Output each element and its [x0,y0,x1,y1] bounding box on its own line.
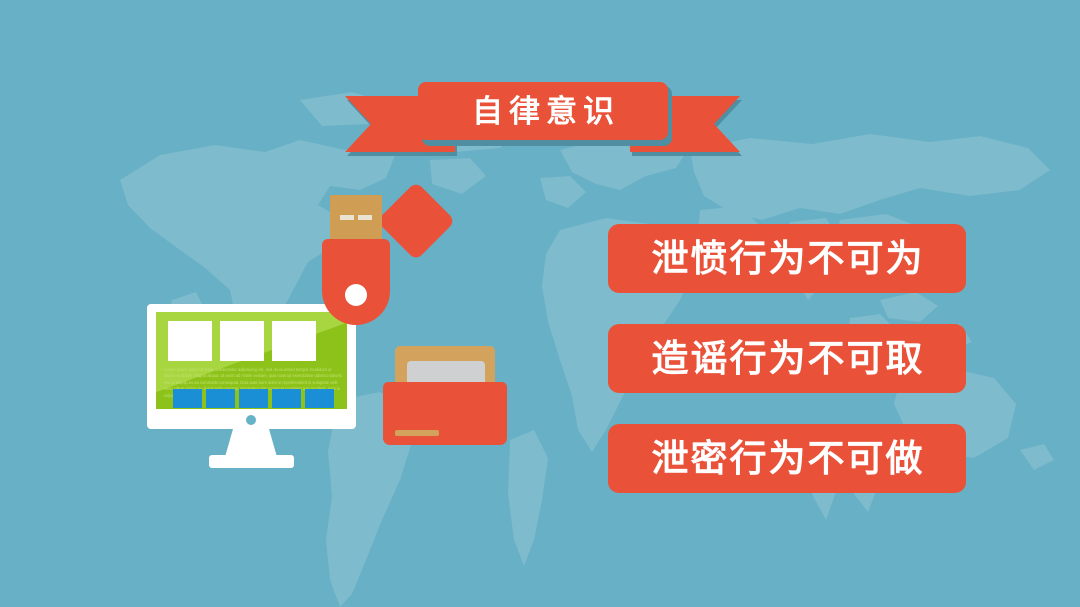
monitor-screen-cards [168,321,316,361]
screen-tile [239,389,268,408]
slogan-item-1: 泄愤行为不可为 [608,224,966,293]
slogan-text-1: 泄愤行为不可为 [650,240,925,277]
folder-front-label-line [395,430,439,436]
usb-flash-drive-icon [316,195,446,325]
monitor-power-dot [246,415,256,425]
screen-card [220,321,264,361]
usb-body [322,239,390,325]
monitor-screen: Lorem ipsum dolor sit amet, consectetur … [156,312,347,409]
desktop-monitor-illustration: Lorem ipsum dolor sit amet, consectetur … [147,304,356,479]
banner: 自律意识 [345,78,740,168]
monitor-screen-tiles [173,389,334,408]
banner-title: 自律意识 [466,96,620,127]
monitor-neck [225,429,277,457]
usb-indicator-hole [345,284,367,306]
slogan-item-2: 造谣行为不可取 [608,324,966,393]
document-folder-icon [383,346,508,446]
screen-card [168,321,212,361]
monitor-base [209,455,294,468]
screen-tile [206,389,235,408]
folder-tab [395,346,441,358]
banner-plate: 自律意识 [418,82,668,140]
slogan-item-3: 泄密行为不可做 [608,424,966,493]
usb-connector [330,195,382,243]
screen-card [272,321,316,361]
screen-tile [173,389,202,408]
screen-tile [305,389,334,408]
usb-connector-slot [358,215,372,220]
slogan-list: 泄愤行为不可为 造谣行为不可取 泄密行为不可做 [608,224,966,493]
usb-connector-slot [340,215,354,220]
slogan-text-3: 泄密行为不可做 [650,440,925,477]
poster-canvas: 自律意识 Lorem ipsum dolor sit amet, consect… [0,0,1080,607]
screen-tile [272,389,301,408]
slogan-text-2: 造谣行为不可取 [650,340,925,377]
